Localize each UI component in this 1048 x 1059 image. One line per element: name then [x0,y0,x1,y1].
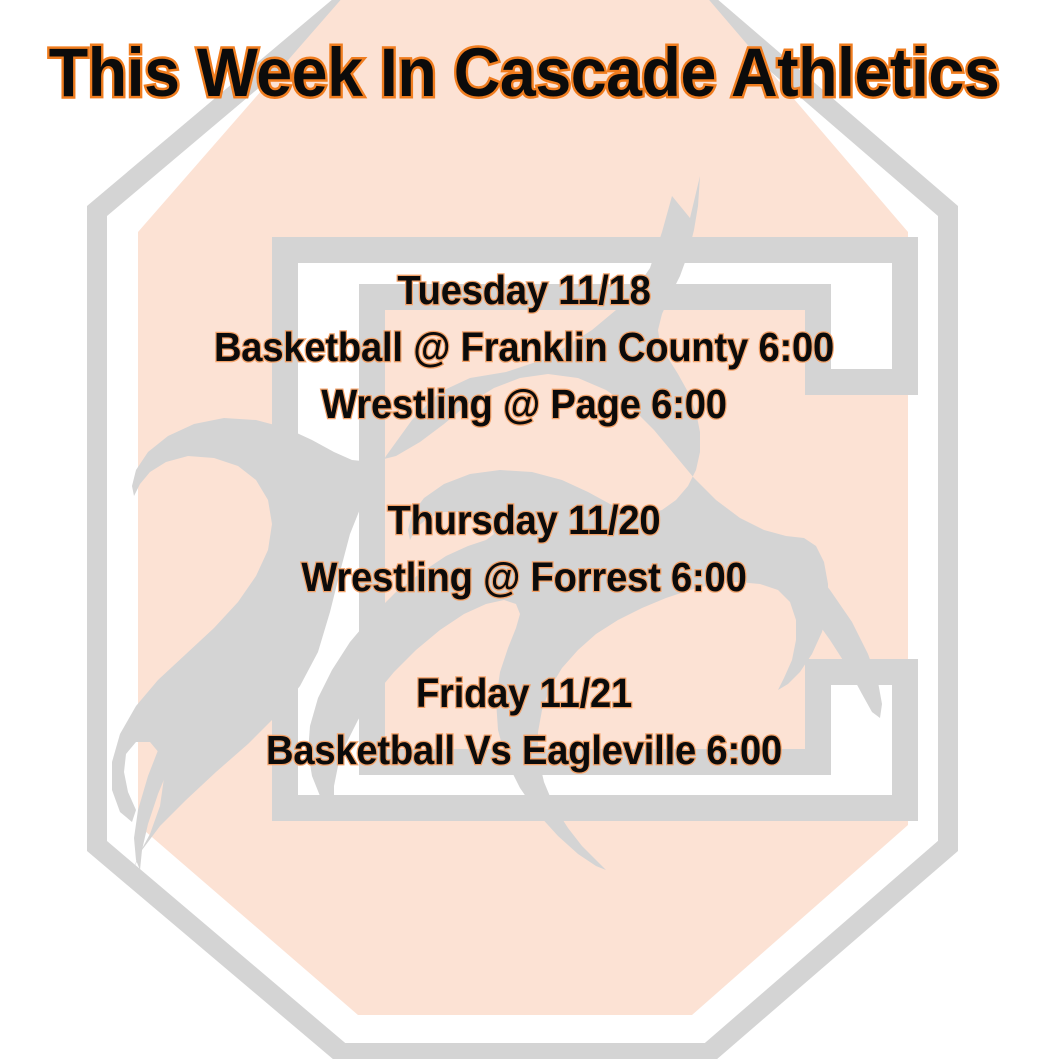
schedule-event: Basketball Vs Eagleville 6:00 [37,722,1012,779]
schedule-event: Wrestling @ Forrest 6:00 [37,549,1012,606]
page-title: This Week In Cascade Athletics [34,38,1014,107]
schedule-day-group: Tuesday 11/18 Basketball @ Franklin Coun… [0,262,1048,433]
schedule-day-group: Thursday 11/20 Wrestling @ Forrest 6:00 [0,492,1048,606]
schedule-date: Tuesday 11/18 [37,262,1012,319]
schedule-date: Thursday 11/20 [37,492,1012,549]
schedule-date: Friday 11/21 [37,665,1012,722]
athletics-schedule-poster: This Week In Cascade Athletics Tuesday 1… [0,0,1048,1059]
schedule-event: Basketball @ Franklin County 6:00 [37,319,1012,376]
schedule-list: Tuesday 11/18 Basketball @ Franklin Coun… [0,262,1048,779]
schedule-day-group: Friday 11/21 Basketball Vs Eagleville 6:… [0,665,1048,779]
schedule-event: Wrestling @ Page 6:00 [37,376,1012,433]
